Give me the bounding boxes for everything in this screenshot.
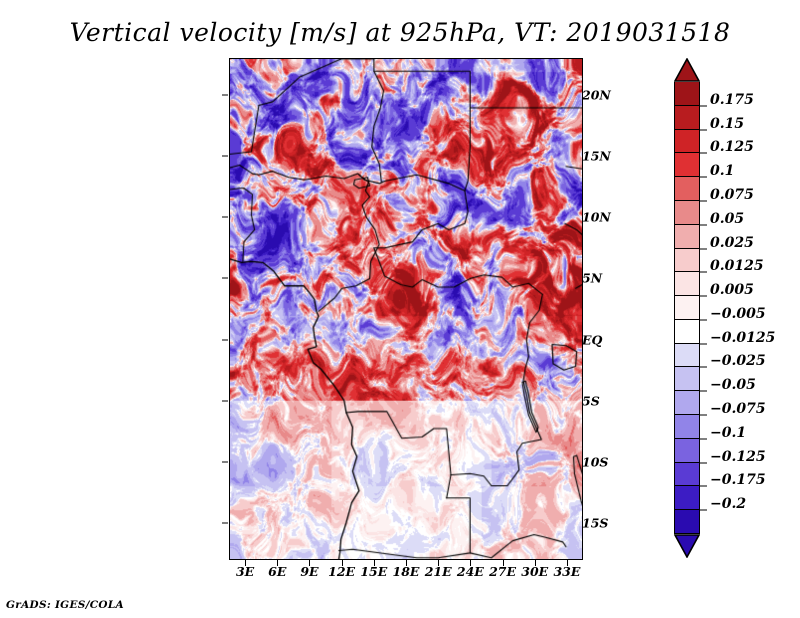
colorbar-tick — [700, 510, 707, 511]
colorbar-tick-label: −0.175 — [710, 472, 766, 488]
colorbar-band — [674, 415, 700, 439]
colorbar-tick — [700, 438, 707, 439]
x-tick-label: 18E — [393, 564, 420, 579]
colorbar-band — [674, 510, 700, 534]
x-tick-label: 21E — [425, 564, 452, 579]
colorbar-band — [674, 296, 700, 320]
colorbar-band — [674, 225, 700, 249]
colorbar — [674, 82, 700, 534]
colorbar-band — [674, 153, 700, 177]
colorbar-band — [674, 463, 700, 487]
x-tick-label: 33E — [553, 564, 580, 579]
colorbar-tick-label: −0.025 — [710, 353, 766, 369]
colorbar-tick — [700, 343, 707, 344]
x-tick-label: 3E — [236, 564, 254, 579]
colorbar-tick — [700, 129, 707, 130]
colorbar-tick-label: −0.1 — [710, 425, 746, 441]
attribution-footer: GrADS: IGES/COLA — [6, 599, 124, 611]
x-tick-label: 27E — [489, 564, 516, 579]
colorbar-tick-label: −0.075 — [710, 401, 766, 417]
colorbar-tick-label: 0.075 — [710, 187, 754, 203]
colorbar-tick — [700, 415, 707, 416]
colorbar-tick-label: 0.15 — [710, 116, 744, 132]
y-tick — [222, 278, 228, 279]
colorbar-tick-label: −0.05 — [710, 377, 756, 393]
colorbar-band — [674, 130, 700, 154]
colorbar-tick-label: 0.125 — [710, 139, 754, 155]
colorbar-tick — [700, 319, 707, 320]
y-tick — [222, 400, 228, 401]
colorbar-arrow-top — [674, 58, 700, 82]
x-tick-label: 6E — [268, 564, 286, 579]
colorbar-tick — [700, 200, 707, 201]
y-tick — [222, 155, 228, 156]
x-tick-label: 15E — [360, 564, 387, 579]
colorbar-tick-label: −0.125 — [710, 449, 766, 465]
colorbar-tick-label: 0.005 — [710, 282, 754, 298]
y-tick — [222, 523, 228, 524]
colorbar-tick — [700, 296, 707, 297]
colorbar-band — [674, 320, 700, 344]
colorbar-tick — [700, 272, 707, 273]
colorbar-tick — [700, 248, 707, 249]
colorbar-tick — [700, 486, 707, 487]
colorbar-band — [674, 391, 700, 415]
y-tick — [222, 94, 228, 95]
colorbar-tick-label: 0.05 — [710, 211, 744, 227]
colorbar-tick — [700, 367, 707, 368]
chart-title: Vertical velocity [m/s] at 925hPa, VT: 2… — [0, 18, 800, 47]
colorbar-tick — [700, 177, 707, 178]
colorbar-tick — [700, 224, 707, 225]
colorbar-tick-label: −0.0125 — [710, 330, 775, 346]
x-tick-label: 30E — [521, 564, 548, 579]
colorbar-tick-label: 0.175 — [710, 92, 754, 108]
colorbar-tick-label: −0.2 — [710, 496, 746, 512]
colorbar-tick — [700, 462, 707, 463]
figure-root: Vertical velocity [m/s] at 925hPa, VT: 2… — [0, 0, 800, 618]
x-tick-label: 12E — [328, 564, 355, 579]
colorbar-band — [674, 272, 700, 296]
colorbar-tick — [700, 391, 707, 392]
colorbar-band — [674, 177, 700, 201]
colorbar-band — [674, 486, 700, 510]
colorbar-band — [674, 439, 700, 463]
colorbar-tick — [700, 105, 707, 106]
y-tick — [222, 217, 228, 218]
colorbar-tick — [700, 153, 707, 154]
colorbar-tick-label: 0.025 — [710, 235, 754, 251]
colorbar-band — [674, 201, 700, 225]
colorbar-band — [674, 106, 700, 130]
colorbar-band — [674, 82, 700, 106]
map-plot-area — [229, 58, 583, 560]
colorbar-band — [674, 249, 700, 273]
vertical-velocity-heatmap — [230, 59, 582, 559]
y-tick — [222, 339, 228, 340]
y-tick — [222, 462, 228, 463]
colorbar-tick-label: 0.0125 — [710, 258, 764, 274]
x-tick-label: 9E — [300, 564, 318, 579]
colorbar-arrow-bottom — [674, 534, 700, 558]
colorbar-tick-label: −0.005 — [710, 306, 766, 322]
colorbar-band — [674, 367, 700, 391]
x-tick-label: 24E — [457, 564, 484, 579]
colorbar-band — [674, 344, 700, 368]
colorbar-tick-label: 0.1 — [710, 163, 734, 179]
